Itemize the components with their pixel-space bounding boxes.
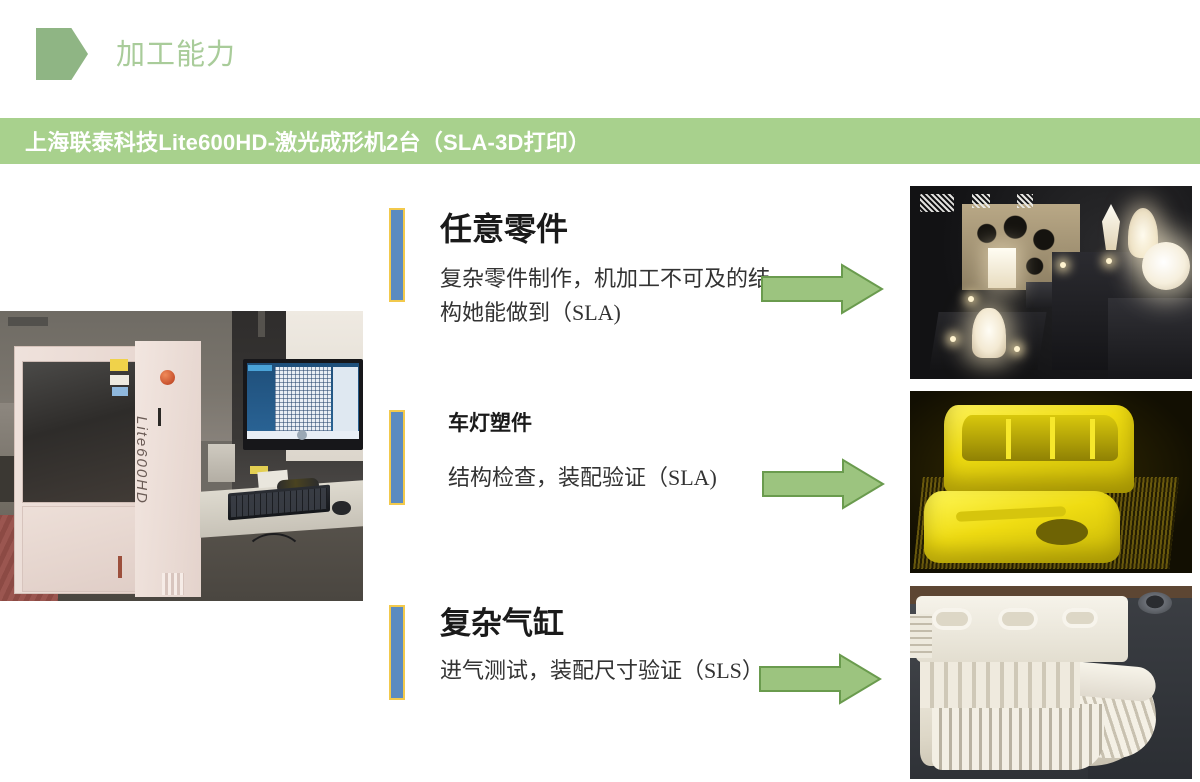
machine-photo: Lite600HD: [0, 311, 363, 601]
photo1-printed-vase-1: [972, 308, 1006, 358]
photo1-pedestal-3: [1108, 298, 1192, 379]
photo-vents: [162, 573, 184, 595]
photo-emergency-stop-button: [160, 370, 175, 385]
accent-bar-1: [389, 208, 405, 302]
photo1-spotlight-4: [1106, 258, 1112, 264]
photo-warning-label-white: [110, 375, 129, 385]
pentagon-arrow-icon: [36, 28, 88, 80]
photo-mouse: [332, 501, 351, 515]
photo-cable: [244, 533, 304, 573]
photo2-housing-hole: [1036, 519, 1088, 545]
photo2-rib-1: [1006, 419, 1011, 459]
result-photo-3: [910, 586, 1192, 779]
photo1-spotlight-1: [950, 336, 956, 342]
section-banner: 上海联泰科技Lite600HD-激光成形机2台（SLA-3D打印）: [0, 118, 1200, 164]
photo-dispenser: [208, 444, 235, 482]
photo-latch: [118, 556, 122, 578]
photo1-3d-logo: [920, 194, 954, 212]
row-title-3: 复杂气缸: [440, 604, 564, 644]
accent-bar-2: [389, 410, 405, 505]
photo-top-sign: [8, 317, 48, 326]
photo-screen-grid: [275, 367, 331, 431]
photo-screen-tab: [248, 365, 272, 371]
photo1-printed-disc-lamp: [1142, 242, 1190, 290]
row-description-2: 结构检查，装配验证（SLA): [448, 459, 768, 497]
photo3-ring-object: [1138, 592, 1172, 614]
photo-warning-label-yellow: [110, 359, 128, 371]
right-arrow-icon-1: [760, 262, 884, 316]
photo-warning-label-blue: [112, 387, 128, 396]
photo-screen-panel: [333, 367, 358, 431]
right-arrow-icon-2: [761, 457, 885, 511]
photo1-spotlight-3: [1060, 262, 1066, 268]
right-arrow-icon-3: [758, 652, 882, 706]
photo-door-handle: [158, 408, 161, 426]
photo3-manifold-lattice: [932, 704, 1104, 770]
row-title-1: 任意零件: [440, 209, 568, 249]
row-description-3: 进气测试，装配尺寸验证（SLS）: [440, 652, 770, 690]
photo1-logo-3: [1017, 194, 1033, 208]
photo1-printed-vase-2: [988, 248, 1016, 288]
photo-machine-lower-panel: [22, 506, 139, 592]
photo-ceiling-pipe: [258, 311, 265, 337]
row-description-1: 复杂零件制作，机加工不可及的结构她能做到（SLA): [440, 262, 770, 330]
photo3-intake-port-3: [1062, 608, 1098, 628]
machine-brand-label: Lite600HD: [128, 416, 150, 566]
slide-header: 加工能力: [0, 0, 1200, 112]
photo1-spotlight-2: [1014, 346, 1020, 352]
photo1-spotlight-5: [968, 296, 974, 302]
photo2-headlamp-housing-lower: [924, 491, 1120, 563]
photo3-support-spur: [910, 614, 932, 658]
accent-bar-3: [389, 605, 405, 700]
photo-screen-play-icon: [297, 430, 307, 440]
result-photo-1: [910, 186, 1192, 379]
section-banner-title: 上海联泰科技Lite600HD-激光成形机2台（SLA-3D打印）: [25, 125, 590, 157]
page-title: 加工能力: [116, 34, 236, 76]
photo3-intake-port-2: [998, 608, 1038, 630]
photo1-logo-2: [972, 194, 990, 208]
photo3-intake-port-1: [932, 608, 972, 630]
photo2-rib-3: [1090, 419, 1095, 459]
row-title-2: 车灯塑件: [448, 409, 532, 439]
photo2-rib-2: [1050, 417, 1055, 459]
result-photo-2: [910, 391, 1192, 573]
